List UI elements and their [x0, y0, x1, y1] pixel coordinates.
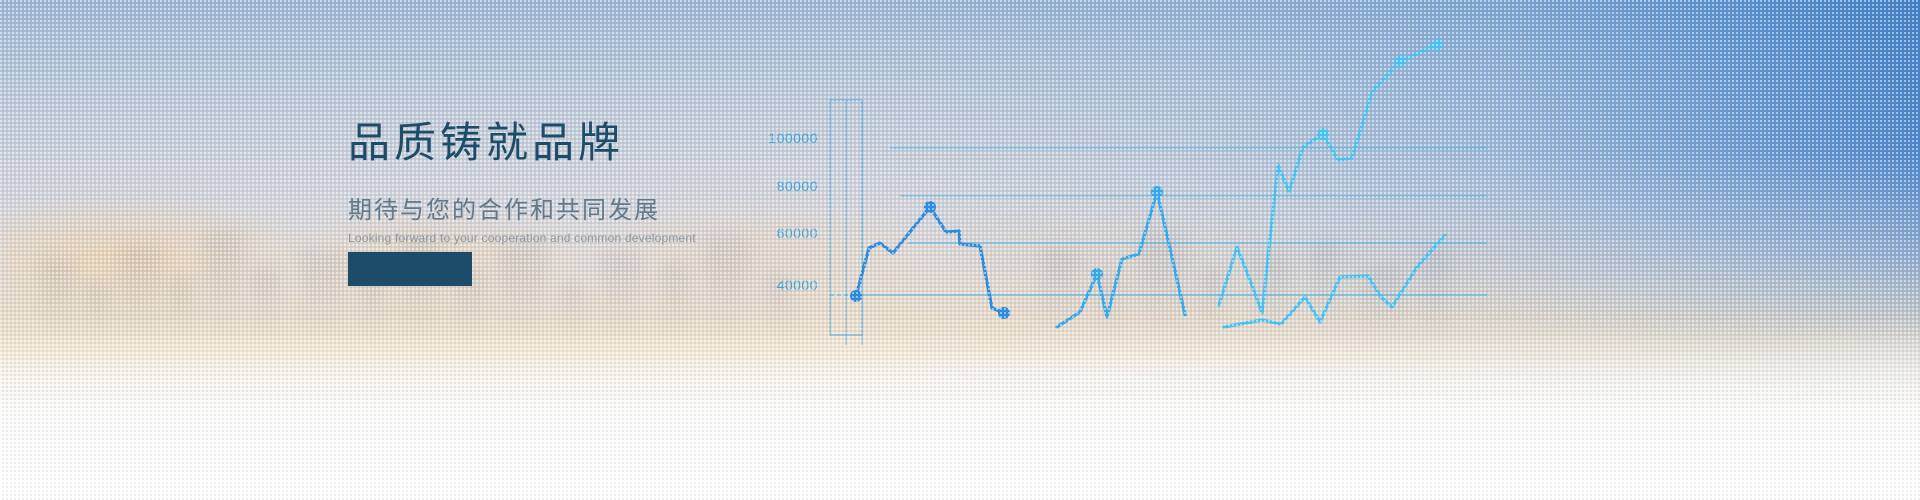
- background-bottom-fade: [0, 330, 1920, 500]
- hero-subtitle-english: Looking forward to your cooperation and …: [348, 231, 868, 245]
- hero-text-block: 品质铸就品牌 期待与您的合作和共同发展 Looking forward to y…: [348, 118, 868, 245]
- hero-banner: 100000800006000040000 品质铸就品牌 期待与您的合作和共同发…: [0, 0, 1920, 500]
- hero-subtitle: 期待与您的合作和共同发展: [348, 190, 868, 225]
- page-title: 品质铸就品牌: [348, 118, 868, 168]
- cta-button[interactable]: [348, 252, 472, 286]
